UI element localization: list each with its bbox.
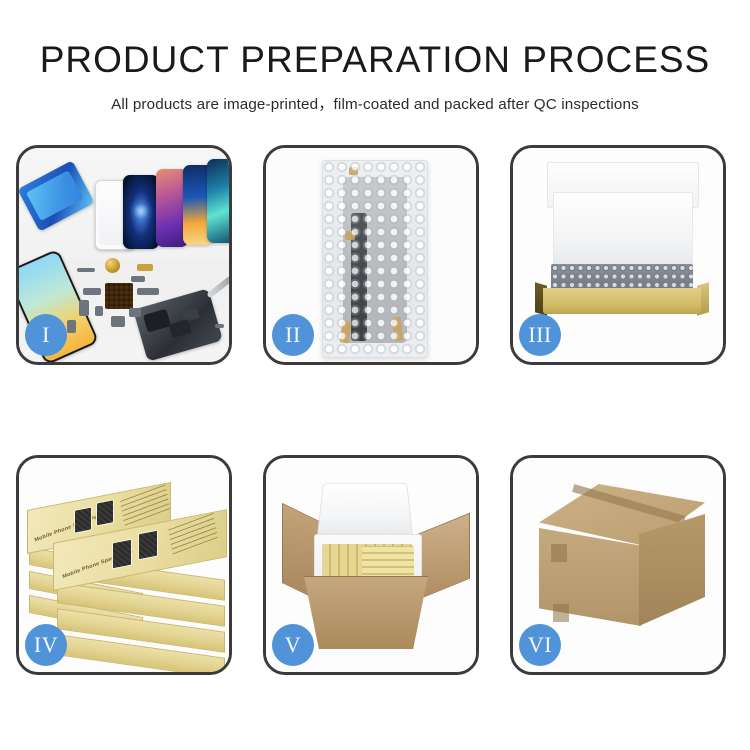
- step-numeral-1: I: [42, 322, 50, 348]
- tape-middle: [345, 231, 355, 240]
- camera-module: [79, 300, 89, 316]
- process-step-panel-5: V: [263, 455, 479, 675]
- page-title: PRODUCT PREPARATION PROCESS: [0, 0, 750, 81]
- step-badge-1: I: [25, 314, 67, 356]
- process-step-panel-2: II: [263, 145, 479, 365]
- step-badge-2: II: [272, 314, 314, 356]
- box-front-panel: [543, 288, 701, 314]
- step-numeral-2: II: [285, 322, 301, 348]
- carton-tab-upper: [551, 544, 567, 562]
- step-badge-6: VI: [519, 624, 561, 666]
- label-spec-lines-front: [168, 513, 218, 555]
- logic-board: [105, 283, 133, 309]
- gold-connector: [137, 264, 153, 271]
- step-badge-5: V: [272, 624, 314, 666]
- screw-set: [215, 324, 224, 328]
- antenna-cable: [137, 288, 159, 295]
- flex-cable-2: [83, 288, 101, 295]
- label-spec-lines-back: [120, 484, 170, 526]
- sim-tray: [95, 306, 103, 316]
- step-numeral-6: VI: [528, 632, 552, 658]
- taptic-engine: [111, 316, 125, 327]
- process-step-panel-3: III: [510, 145, 726, 365]
- label-window-front-1: [112, 539, 132, 570]
- label-window-back-2: [96, 499, 114, 526]
- header: PRODUCT PREPARATION PROCESS All products…: [0, 0, 750, 114]
- foam-case-lid: [317, 483, 413, 539]
- page-subtitle: All products are image-printed，film-coat…: [0, 81, 750, 114]
- foam-sheet: [553, 192, 693, 264]
- tape-top: [349, 167, 358, 175]
- vibration-motor: [105, 258, 120, 273]
- small-bracket: [129, 308, 141, 317]
- product-preparation-infographic: PRODUCT PREPARATION PROCESS All products…: [0, 0, 750, 750]
- bubble-wrap-bag: [322, 160, 428, 358]
- step-numeral-3: III: [528, 322, 551, 348]
- loudspeaker: [67, 320, 76, 333]
- process-step-panel-1: I: [16, 145, 232, 365]
- label-window-back-1: [74, 506, 92, 533]
- speaker-module: [77, 268, 95, 272]
- label-window-front-2: [138, 530, 158, 561]
- teal-gradient-phone: [207, 159, 229, 243]
- process-step-panel-4: Mobile Phone Spare Parts Mobile Phone Sp…: [16, 455, 232, 675]
- step-numeral-4: IV: [34, 632, 58, 658]
- flex-cable-1: [131, 276, 145, 282]
- carton-tab-lower: [553, 604, 569, 622]
- step-numeral-5: V: [285, 632, 301, 658]
- step-badge-4: IV: [25, 624, 67, 666]
- step-badge-3: III: [519, 314, 561, 356]
- process-step-panel-6: VI: [510, 455, 726, 675]
- packed-boxes-row-2: [362, 546, 414, 580]
- lightning-display: [123, 175, 159, 249]
- process-step-grid: I II: [16, 145, 734, 675]
- outer-carton-body: [304, 576, 428, 649]
